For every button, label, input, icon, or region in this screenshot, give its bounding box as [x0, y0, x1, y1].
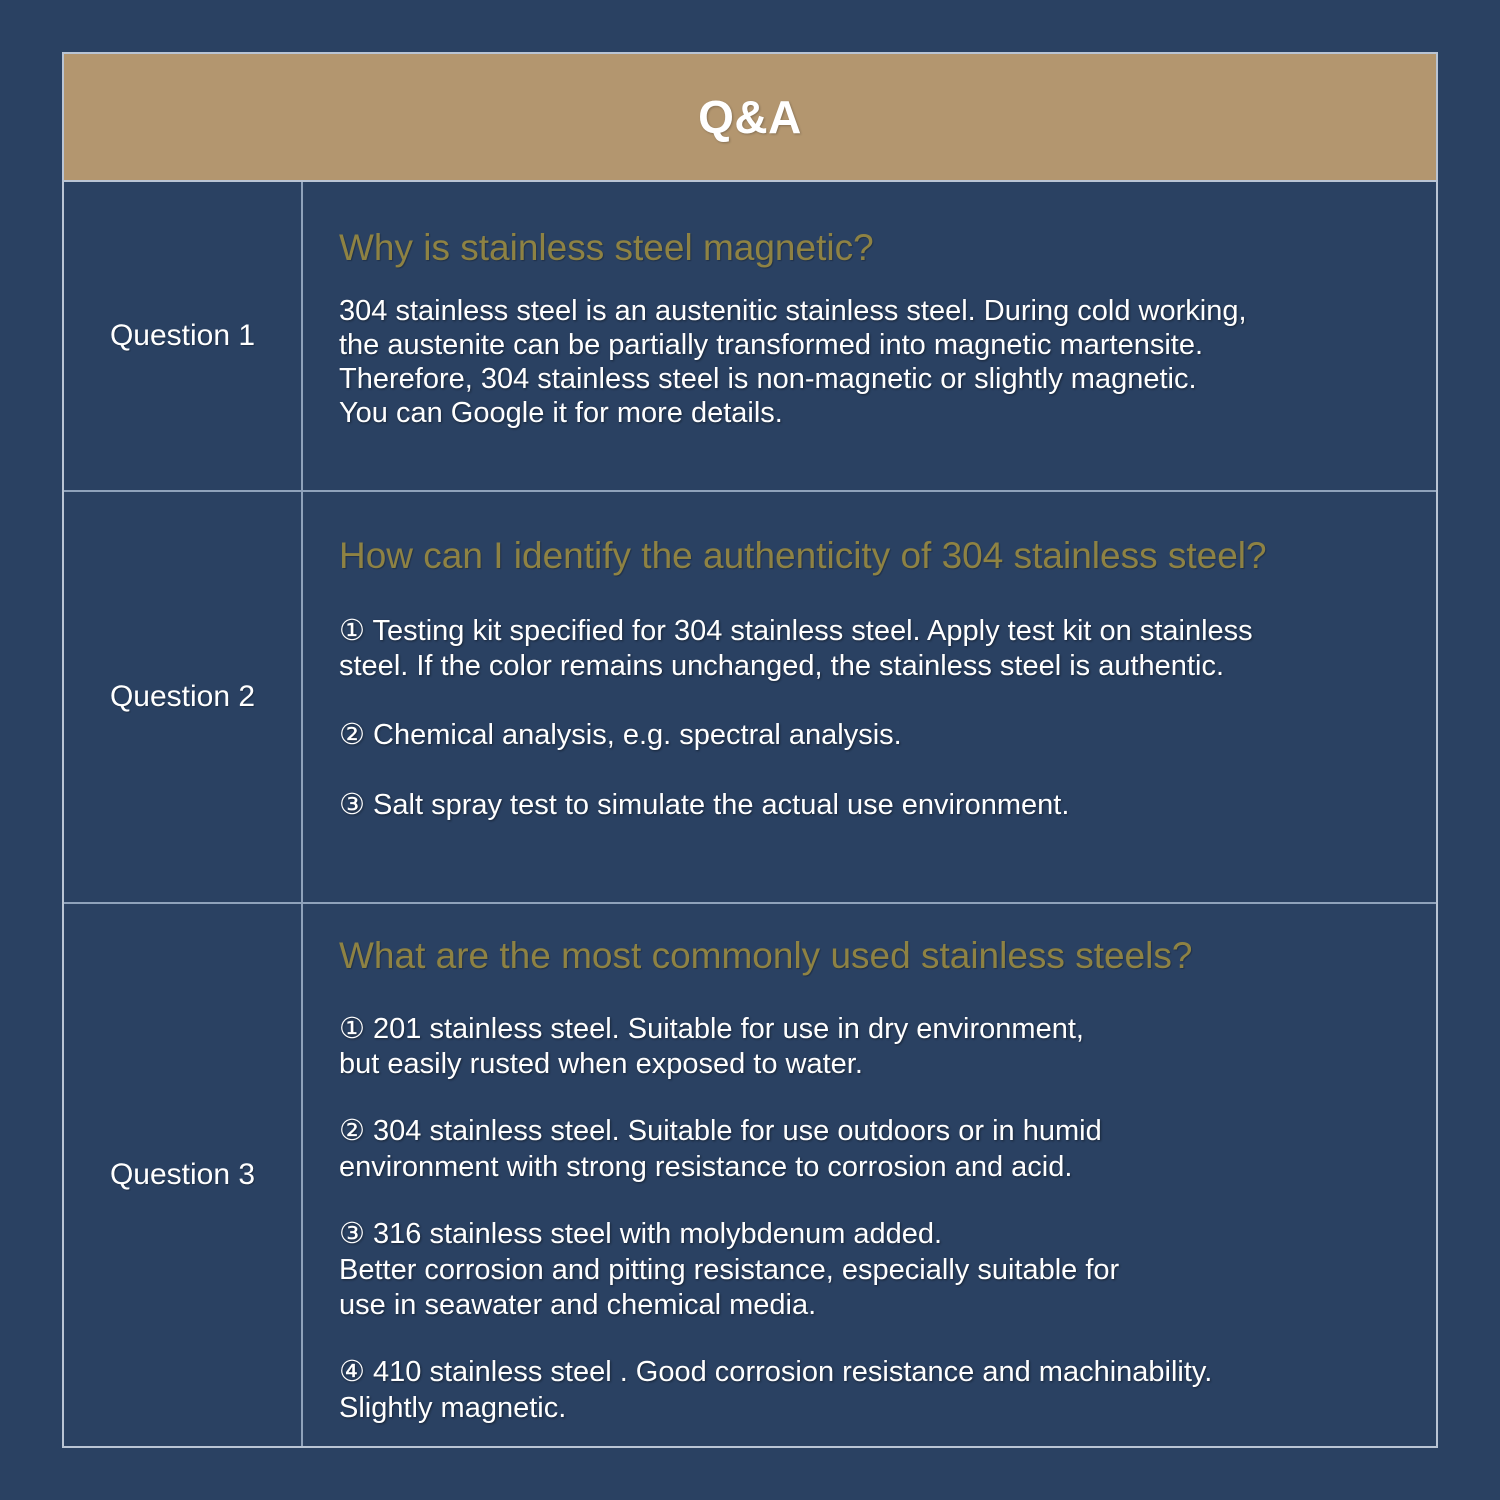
table-row: Question 1 Why is stainless steel magnet…	[64, 182, 1436, 492]
question-label-cell-1: Question 1	[64, 182, 303, 490]
question-title-1: Why is stainless steel magnetic?	[339, 226, 1418, 270]
answer-list-item: ① Testing kit specified for 304 stainles…	[339, 614, 1418, 685]
qa-table-header: Q&A	[64, 54, 1436, 182]
question-content-cell-2: How can I identify the authenticity of 3…	[303, 492, 1436, 902]
table-row: Question 3 What are the most commonly us…	[64, 904, 1436, 1446]
answer-list-item: ② 304 stainless steel. Suitable for use …	[339, 1114, 1418, 1185]
qa-table: Q&A Question 1 Why is stainless steel ma…	[62, 52, 1438, 1448]
question-label-cell-2: Question 2	[64, 492, 303, 902]
page-title: Q&A	[698, 90, 802, 144]
question-label-1: Question 1	[110, 319, 255, 353]
answer-list-item: ① 201 stainless steel. Suitable for use …	[339, 1012, 1418, 1083]
answer-list-item: ④ 410 stainless steel . Good corrosion r…	[339, 1355, 1418, 1426]
question-title-2: How can I identify the authenticity of 3…	[339, 534, 1418, 578]
table-row: Question 2 How can I identify the authen…	[64, 492, 1436, 904]
question-content-cell-1: Why is stainless steel magnetic? 304 sta…	[303, 182, 1436, 490]
question-label-2: Question 2	[110, 680, 255, 714]
question-label-cell-3: Question 3	[64, 904, 303, 1446]
answer-list-item: ② Chemical analysis, e.g. spectral analy…	[339, 718, 1418, 753]
answer-list-item: ③ 316 stainless steel with molybdenum ad…	[339, 1217, 1418, 1323]
answer-text-1: 304 stainless steel is an austenitic sta…	[339, 294, 1418, 431]
question-title-3: What are the most commonly used stainles…	[339, 934, 1418, 978]
answer-list-item: ③ Salt spray test to simulate the actual…	[339, 788, 1418, 823]
question-label-3: Question 3	[110, 1158, 255, 1192]
question-content-cell-3: What are the most commonly used stainles…	[303, 904, 1436, 1446]
